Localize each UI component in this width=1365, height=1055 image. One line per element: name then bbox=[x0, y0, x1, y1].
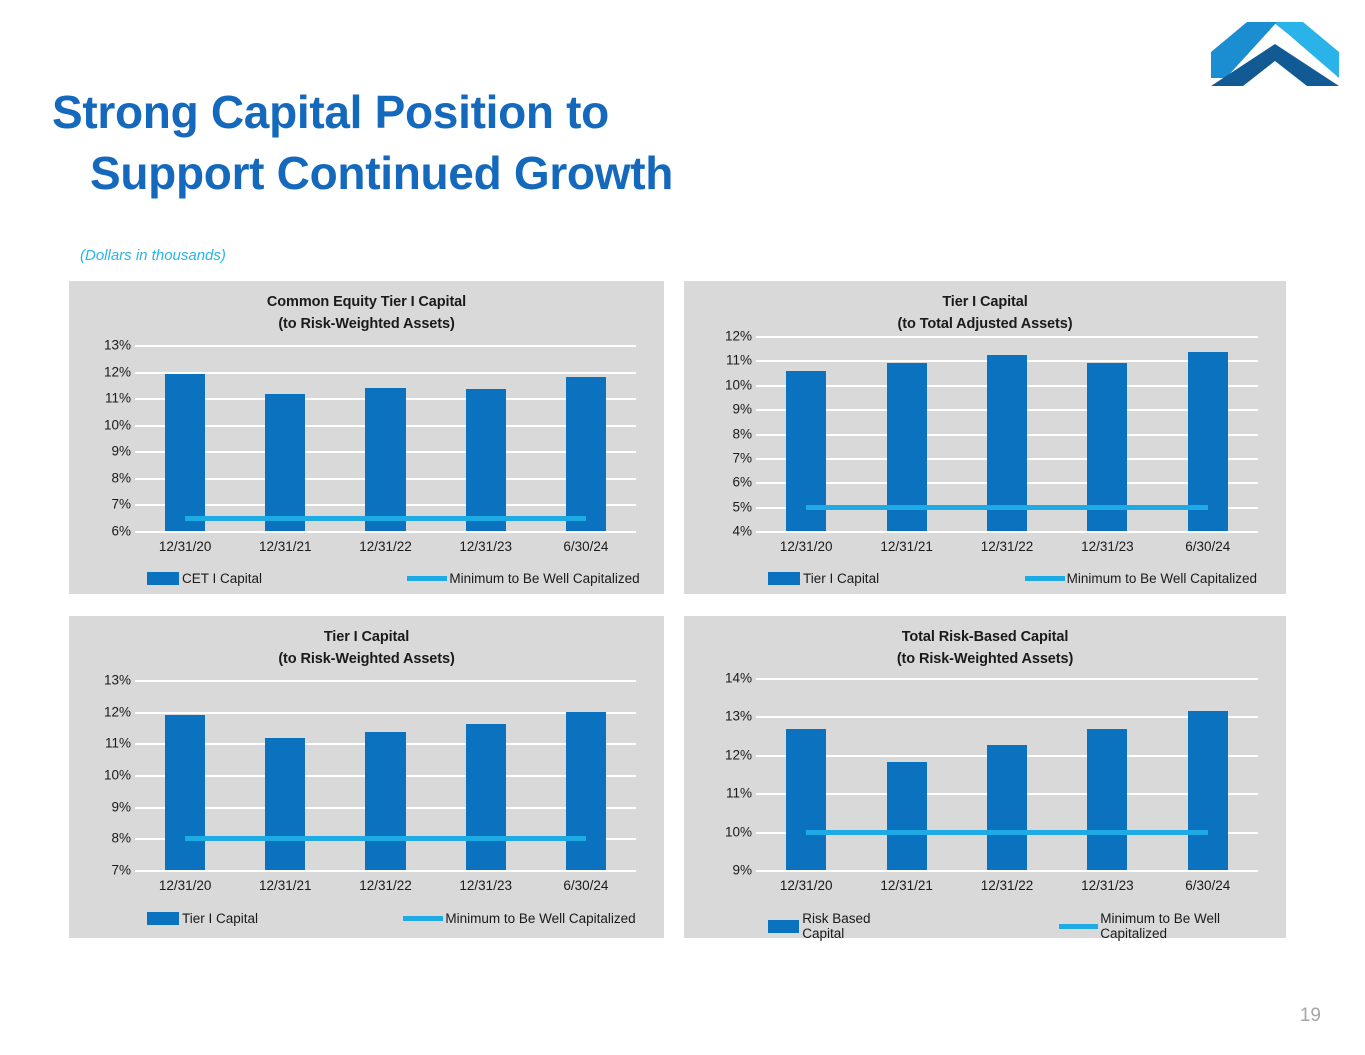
chart-title-main: Common Equity Tier I Capital bbox=[267, 294, 466, 310]
legend-line-icon bbox=[403, 916, 443, 921]
x-tick-label: 12/31/21 bbox=[259, 878, 312, 893]
y-axis-labels: 14%13%12%11%10%9% bbox=[684, 616, 756, 938]
bar bbox=[265, 738, 305, 870]
gridline bbox=[135, 680, 636, 682]
legend-swatch-icon bbox=[768, 920, 799, 933]
chart-legend: CET I CapitalMinimum to Be Well Capitali… bbox=[69, 571, 664, 586]
legend-label-minimum-line: Minimum to Be Well Capitalized bbox=[1100, 911, 1286, 941]
y-axis-labels: 13%12%11%10%9%8%7%6% bbox=[69, 281, 135, 594]
x-tick-label: 12/31/23 bbox=[1081, 539, 1134, 554]
chart-legend: Tier I CapitalMinimum to Be Well Capital… bbox=[684, 571, 1286, 586]
legend-label-bar-series: CET I Capital bbox=[182, 571, 262, 586]
x-tick-label: 12/31/20 bbox=[780, 878, 833, 893]
legend-item-minimum-line[interactable]: Minimum to Be Well Capitalized bbox=[403, 911, 635, 926]
y-tick-label: 9% bbox=[732, 863, 752, 878]
legend-item-bar-series[interactable]: Tier I Capital bbox=[147, 911, 258, 926]
legend-line-icon bbox=[407, 576, 447, 581]
chart-title-subtitle: (to Risk-Weighted Assets) bbox=[684, 648, 1286, 670]
y-tick-label: 6% bbox=[111, 524, 131, 539]
chart-legend: Tier I CapitalMinimum to Be Well Capital… bbox=[69, 911, 664, 926]
legend-label-bar-series: Tier I Capital bbox=[803, 571, 879, 586]
minimum-threshold-line bbox=[185, 836, 586, 841]
gridline bbox=[135, 712, 636, 714]
title-line-1: Strong Capital Position to bbox=[52, 86, 609, 138]
legend-item-bar-series[interactable]: CET I Capital bbox=[147, 571, 262, 586]
gridline bbox=[135, 870, 636, 872]
bar bbox=[466, 389, 506, 531]
y-tick-label: 9% bbox=[732, 402, 752, 417]
bar bbox=[365, 732, 405, 870]
chart-panel-total-risk-based-capital: Total Risk-Based Capital(to Risk-Weighte… bbox=[684, 616, 1286, 938]
legend-line-icon bbox=[1059, 924, 1098, 929]
chart-legend: Risk Based CapitalMinimum to Be Well Cap… bbox=[684, 911, 1286, 941]
y-tick-label: 7% bbox=[111, 497, 131, 512]
y-tick-label: 12% bbox=[104, 364, 131, 379]
company-logo bbox=[1211, 14, 1339, 86]
x-tick-label: 12/31/23 bbox=[1081, 878, 1134, 893]
legend-swatch-icon bbox=[147, 572, 179, 585]
bar bbox=[1188, 711, 1228, 870]
y-tick-label: 12% bbox=[725, 329, 752, 344]
x-tick-label: 12/31/23 bbox=[459, 878, 512, 893]
x-tick-label: 12/31/22 bbox=[359, 878, 412, 893]
x-tick-label: 12/31/21 bbox=[880, 878, 933, 893]
bar bbox=[1087, 729, 1127, 870]
plot-area bbox=[135, 345, 636, 531]
bar bbox=[365, 388, 405, 531]
legend-label-bar-series: Tier I Capital bbox=[182, 911, 258, 926]
page-number: 19 bbox=[1300, 1005, 1321, 1027]
legend-swatch-icon bbox=[147, 912, 179, 925]
gridline bbox=[756, 870, 1258, 872]
x-tick-label: 12/31/21 bbox=[880, 539, 933, 554]
y-tick-label: 8% bbox=[111, 470, 131, 485]
legend-item-bar-series[interactable]: Risk Based Capital bbox=[768, 911, 914, 941]
y-axis-labels: 13%12%11%10%9%8%7% bbox=[69, 616, 135, 938]
x-tick-label: 12/31/21 bbox=[259, 539, 312, 554]
x-tick-label: 12/31/22 bbox=[981, 878, 1034, 893]
bar bbox=[987, 745, 1027, 870]
y-tick-label: 6% bbox=[732, 475, 752, 490]
bar bbox=[165, 715, 205, 870]
bar bbox=[887, 762, 927, 870]
gridline bbox=[135, 372, 636, 374]
x-tick-label: 6/30/24 bbox=[563, 878, 608, 893]
gridline bbox=[135, 531, 636, 533]
bar bbox=[165, 374, 205, 531]
chart-panel-common-equity-tier-i-capital: Common Equity Tier I Capital(to Risk-Wei… bbox=[69, 281, 664, 594]
x-tick-label: 6/30/24 bbox=[563, 539, 608, 554]
x-tick-label: 12/31/20 bbox=[159, 539, 212, 554]
legend-line-icon bbox=[1025, 576, 1065, 581]
chart-title-main: Tier I Capital bbox=[324, 629, 409, 645]
y-tick-label: 13% bbox=[104, 338, 131, 353]
legend-label-minimum-line: Minimum to Be Well Capitalized bbox=[445, 911, 635, 926]
x-tick-label: 12/31/20 bbox=[780, 539, 833, 554]
minimum-threshold-line bbox=[185, 516, 586, 521]
chart-title: Total Risk-Based Capital(to Risk-Weighte… bbox=[684, 616, 1286, 670]
bar bbox=[566, 377, 606, 531]
x-tick-label: 12/31/22 bbox=[981, 539, 1034, 554]
legend-item-bar-series[interactable]: Tier I Capital bbox=[768, 571, 879, 586]
plot-area bbox=[756, 678, 1258, 870]
title-line-2: Support Continued Growth bbox=[52, 143, 952, 204]
bar bbox=[265, 394, 305, 531]
y-tick-label: 8% bbox=[732, 426, 752, 441]
chart-title-main: Total Risk-Based Capital bbox=[902, 629, 1069, 645]
chart-title: Tier I Capital(to Risk-Weighted Assets) bbox=[69, 616, 664, 670]
y-tick-label: 12% bbox=[725, 747, 752, 762]
bar bbox=[466, 724, 506, 870]
y-tick-label: 10% bbox=[725, 824, 752, 839]
y-tick-label: 8% bbox=[111, 831, 131, 846]
minimum-threshold-line bbox=[806, 505, 1208, 510]
y-tick-label: 9% bbox=[111, 799, 131, 814]
y-tick-label: 4% bbox=[732, 524, 752, 539]
y-tick-label: 14% bbox=[725, 671, 752, 686]
legend-label-minimum-line: Minimum to Be Well Capitalized bbox=[1067, 571, 1257, 586]
gridline bbox=[756, 678, 1258, 680]
chart-title: Tier I Capital(to Total Adjusted Assets) bbox=[684, 281, 1286, 335]
plot-area bbox=[756, 336, 1258, 531]
gridline bbox=[756, 336, 1258, 338]
legend-item-minimum-line[interactable]: Minimum to Be Well Capitalized bbox=[407, 571, 639, 586]
chevron-logo-icon bbox=[1211, 14, 1339, 86]
y-tick-label: 12% bbox=[104, 704, 131, 719]
y-tick-label: 11% bbox=[105, 391, 131, 406]
y-tick-label: 11% bbox=[726, 353, 752, 368]
slide-root: Strong Capital Position to Support Conti… bbox=[0, 0, 1365, 1055]
minimum-threshold-line bbox=[806, 830, 1208, 835]
chart-panel-tier-i-capital-risk-weighted-assets: Tier I Capital(to Risk-Weighted Assets)1… bbox=[69, 616, 664, 938]
x-tick-label: 12/31/23 bbox=[459, 539, 512, 554]
y-tick-label: 10% bbox=[104, 417, 131, 432]
plot-area bbox=[135, 680, 636, 870]
legend-swatch-icon bbox=[768, 572, 800, 585]
x-tick-label: 12/31/22 bbox=[359, 539, 412, 554]
chart-title-main: Tier I Capital bbox=[942, 294, 1027, 310]
chart-title: Common Equity Tier I Capital(to Risk-Wei… bbox=[69, 281, 664, 335]
legend-label-bar-series: Risk Based Capital bbox=[802, 911, 913, 941]
bar bbox=[786, 729, 826, 870]
y-tick-label: 13% bbox=[725, 709, 752, 724]
x-tick-label: 12/31/20 bbox=[159, 878, 212, 893]
y-tick-label: 5% bbox=[732, 499, 752, 514]
x-tick-label: 6/30/24 bbox=[1185, 539, 1230, 554]
chart-title-subtitle: (to Total Adjusted Assets) bbox=[684, 313, 1286, 335]
y-axis-labels: 12%11%10%9%8%7%6%5%4% bbox=[684, 281, 756, 594]
legend-item-minimum-line[interactable]: Minimum to Be Well Capitalized bbox=[1059, 911, 1286, 941]
legend-item-minimum-line[interactable]: Minimum to Be Well Capitalized bbox=[1025, 571, 1257, 586]
gridline bbox=[756, 531, 1258, 533]
y-tick-label: 7% bbox=[732, 450, 752, 465]
units-note: (Dollars in thousands) bbox=[80, 247, 226, 264]
gridline bbox=[756, 716, 1258, 718]
y-tick-label: 9% bbox=[111, 444, 131, 459]
y-tick-label: 11% bbox=[105, 736, 131, 751]
chart-title-subtitle: (to Risk-Weighted Assets) bbox=[69, 648, 664, 670]
gridline bbox=[135, 345, 636, 347]
y-tick-label: 13% bbox=[104, 673, 131, 688]
y-tick-label: 10% bbox=[725, 377, 752, 392]
x-tick-label: 6/30/24 bbox=[1185, 878, 1230, 893]
y-tick-label: 7% bbox=[111, 863, 131, 878]
chart-panel-tier-i-capital-total-adjusted-assets: Tier I Capital(to Total Adjusted Assets)… bbox=[684, 281, 1286, 594]
y-tick-label: 10% bbox=[104, 768, 131, 783]
legend-label-minimum-line: Minimum to Be Well Capitalized bbox=[449, 571, 639, 586]
bar bbox=[566, 712, 606, 870]
page-title: Strong Capital Position to Support Conti… bbox=[52, 82, 952, 203]
y-tick-label: 11% bbox=[726, 786, 752, 801]
chart-title-subtitle: (to Risk-Weighted Assets) bbox=[69, 313, 664, 335]
